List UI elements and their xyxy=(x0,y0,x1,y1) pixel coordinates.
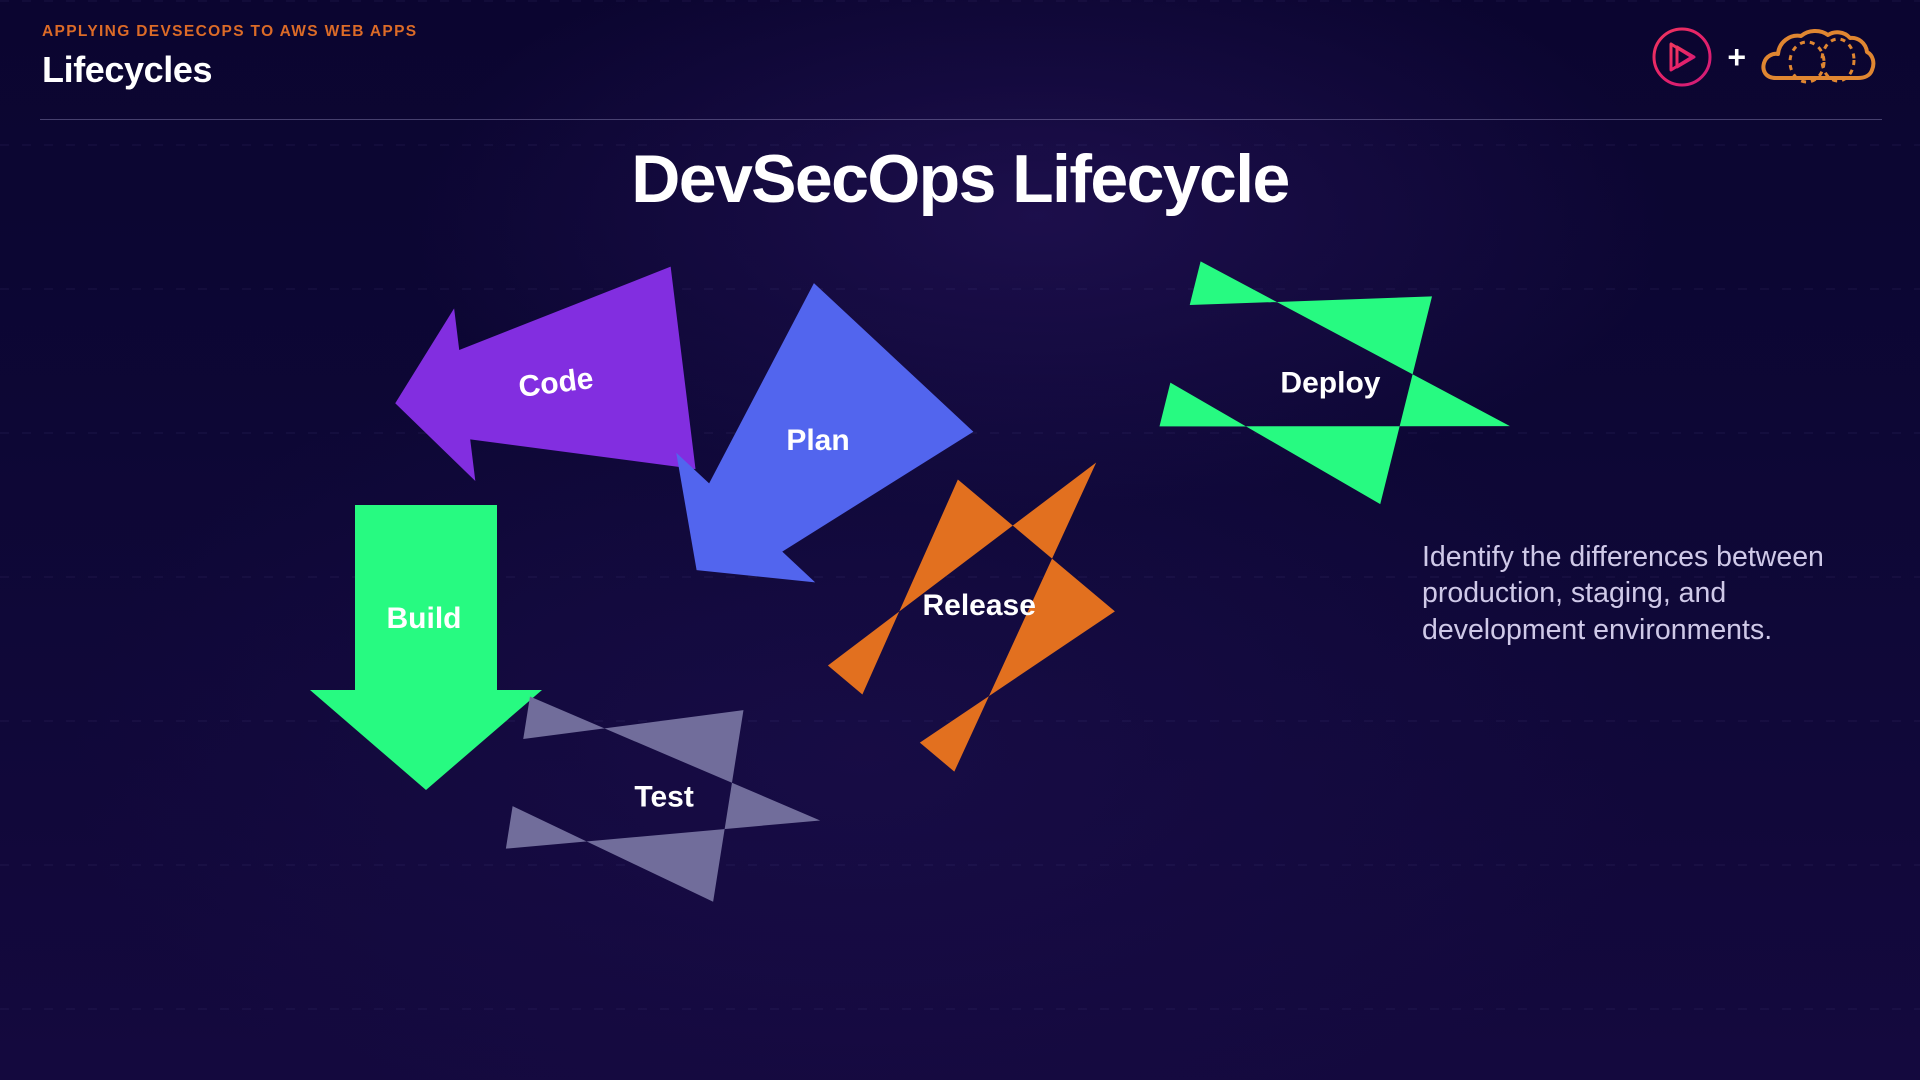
arrow-label-deploy: Deploy xyxy=(1280,366,1380,399)
diagram-arrow-deploy[interactable]: Deploy xyxy=(1154,240,1536,530)
page-title: Lifecycles xyxy=(42,49,212,91)
main-heading: DevSecOps Lifecycle xyxy=(0,140,1920,218)
arrow-label-build: Build xyxy=(387,602,462,635)
diagram-arrow-code[interactable]: Code xyxy=(383,267,696,505)
logo-group: + xyxy=(1651,24,1878,94)
pluralsight-logo-icon xyxy=(1651,26,1713,93)
arrow-label-code: Code xyxy=(517,362,595,404)
arrow-label-release: Release xyxy=(922,589,1035,622)
slide-header: APPLYING DEVSECOPS TO AWS WEB APPS Lifec… xyxy=(0,0,1920,121)
arrow-label-test: Test xyxy=(634,781,693,814)
slide-canvas: APPLYING DEVSECOPS TO AWS WEB APPS Lifec… xyxy=(0,0,1920,1080)
diagram-arrow-build[interactable]: Build xyxy=(310,505,542,790)
plus-icon: + xyxy=(1727,41,1746,77)
aws-cloud-logo-icon xyxy=(1760,26,1878,93)
header-kicker: APPLYING DEVSECOPS TO AWS WEB APPS xyxy=(42,23,418,41)
callout-text: Identify the differences between product… xyxy=(1422,539,1852,648)
arrow-label-plan: Plan xyxy=(786,424,849,457)
header-divider xyxy=(40,119,1882,120)
diagram-arrow-release[interactable]: Release xyxy=(813,401,1181,784)
diagram-arrow-plan[interactable]: Plan xyxy=(616,283,973,644)
diagram-arrow-test[interactable]: Test xyxy=(503,677,836,916)
